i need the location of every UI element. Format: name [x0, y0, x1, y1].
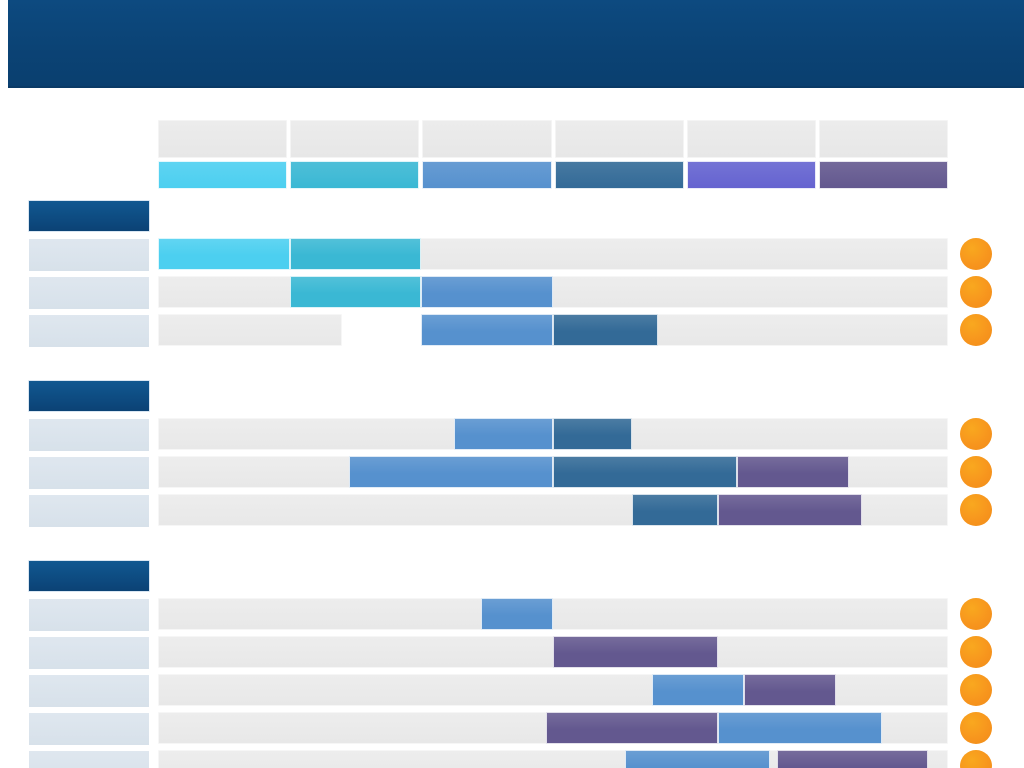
task-label[interactable] [28, 314, 150, 348]
milestone-marker[interactable] [960, 598, 992, 630]
gantt-bar[interactable] [421, 314, 553, 346]
gantt-bar[interactable] [737, 456, 849, 488]
milestone-marker[interactable] [960, 494, 992, 526]
timeline-period-cell-4[interactable] [555, 120, 684, 158]
gantt-bar[interactable] [158, 238, 290, 270]
task-label[interactable] [28, 494, 150, 528]
milestone-marker[interactable] [960, 418, 992, 450]
gantt-bar[interactable] [718, 494, 863, 526]
gantt-bar[interactable] [652, 674, 744, 706]
gantt-bar[interactable] [290, 276, 422, 308]
timeline-period-cell-5[interactable] [687, 120, 816, 158]
gantt-bar[interactable] [553, 636, 718, 668]
task-label[interactable] [28, 276, 150, 310]
gantt-bar[interactable] [553, 418, 632, 450]
gantt-bar[interactable] [553, 456, 737, 488]
timeline-phase-row [158, 161, 948, 189]
milestone-marker[interactable] [960, 674, 992, 706]
timeline-phase-cell-2[interactable] [290, 161, 419, 189]
timeline-period-row [158, 120, 948, 158]
task-label[interactable] [28, 456, 150, 490]
group-header-1[interactable] [28, 200, 150, 232]
milestone-marker[interactable] [960, 276, 992, 308]
gantt-bar[interactable] [718, 712, 883, 744]
gantt-bar[interactable] [349, 456, 553, 488]
page-title [8, 0, 1024, 30]
task-label[interactable] [28, 238, 150, 272]
task-track [158, 314, 342, 346]
timeline-axis [158, 120, 948, 192]
timeline-phase-cell-6[interactable] [819, 161, 948, 189]
task-label[interactable] [28, 750, 150, 768]
timeline-phase-cell-5[interactable] [687, 161, 816, 189]
timeline-phase-cell-4[interactable] [555, 161, 684, 189]
gantt-bar[interactable] [454, 418, 553, 450]
milestone-marker[interactable] [960, 238, 992, 270]
timeline-period-cell-3[interactable] [422, 120, 551, 158]
task-label[interactable] [28, 712, 150, 746]
gantt-bar[interactable] [546, 712, 717, 744]
gantt-plot-area [158, 200, 948, 720]
milestone-marker[interactable] [960, 750, 992, 768]
gantt-bar[interactable] [290, 238, 422, 270]
gantt-chart-page [0, 0, 1024, 768]
task-label[interactable] [28, 418, 150, 452]
task-label-column [28, 200, 150, 720]
gantt-bar[interactable] [553, 314, 658, 346]
milestone-marker[interactable] [960, 314, 992, 346]
group-header-2[interactable] [28, 380, 150, 412]
task-label[interactable] [28, 598, 150, 632]
task-label[interactable] [28, 674, 150, 708]
timeline-period-cell-6[interactable] [819, 120, 948, 158]
gantt-bar[interactable] [777, 750, 928, 768]
timeline-phase-cell-1[interactable] [158, 161, 287, 189]
gantt-bar[interactable] [625, 750, 770, 768]
milestone-marker[interactable] [960, 456, 992, 488]
timeline-period-cell-1[interactable] [158, 120, 287, 158]
gantt-bar[interactable] [481, 598, 553, 630]
task-label[interactable] [28, 636, 150, 670]
page-banner [8, 0, 1024, 88]
milestone-marker[interactable] [960, 712, 992, 744]
task-track [158, 276, 948, 308]
gantt-bar[interactable] [632, 494, 718, 526]
gantt-bar[interactable] [744, 674, 836, 706]
timeline-period-cell-2[interactable] [290, 120, 419, 158]
task-track [158, 598, 948, 630]
gantt-bar[interactable] [421, 276, 553, 308]
milestone-marker[interactable] [960, 636, 992, 668]
timeline-phase-cell-3[interactable] [422, 161, 551, 189]
group-header-3[interactable] [28, 560, 150, 592]
